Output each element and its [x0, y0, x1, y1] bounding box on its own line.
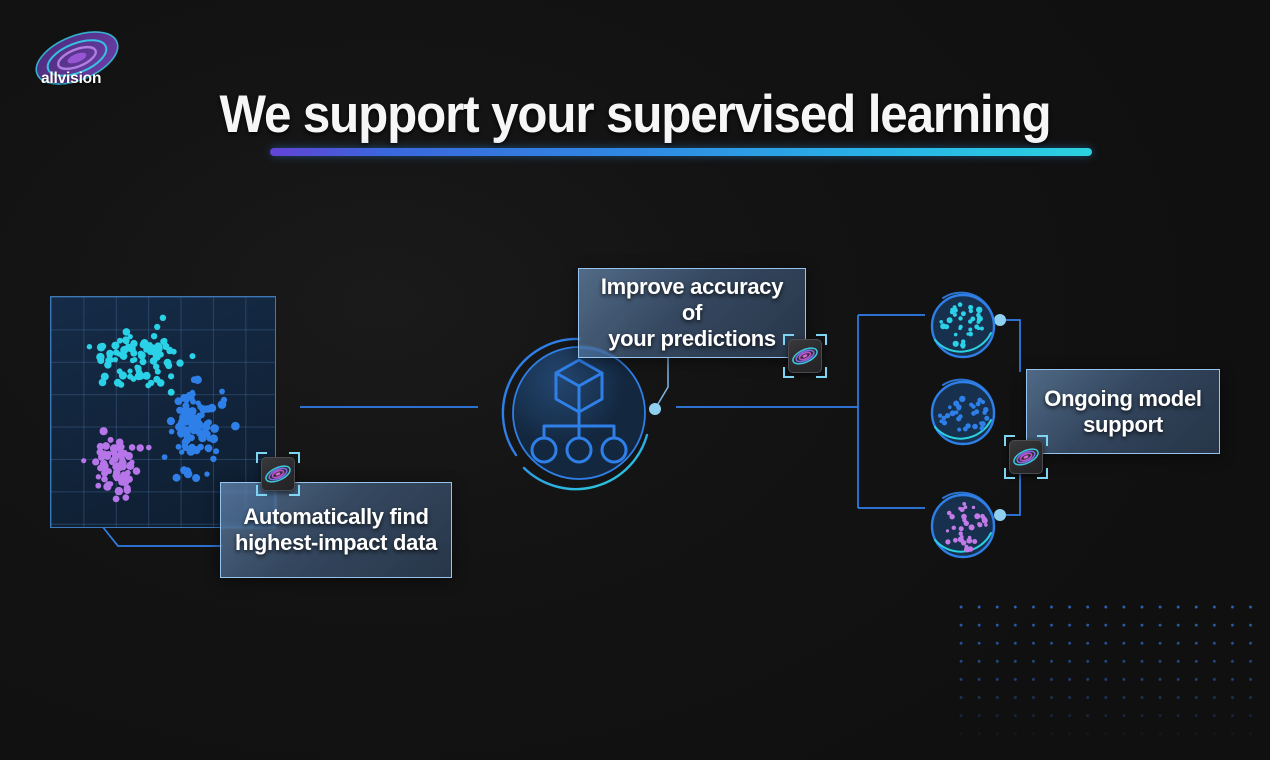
dish-purple[interactable] — [925, 488, 1001, 564]
corner-bracket-icon — [816, 367, 827, 378]
corner-bracket-icon — [783, 367, 794, 378]
card-label: Automatically find highest-impact data — [223, 504, 449, 556]
slide-canvas: allvision We support your supervised lea… — [0, 0, 1270, 760]
callout-ongoing-support[interactable]: Ongoing model support — [1026, 369, 1220, 454]
corner-bracket-icon — [289, 452, 300, 463]
corner-bracket-icon — [256, 485, 267, 496]
corner-bracket-icon — [1004, 468, 1015, 479]
callout-improve-accuracy[interactable]: Improve accuracy of your predictions — [578, 268, 806, 358]
corner-bracket-icon — [783, 334, 794, 345]
corner-bracket-icon — [1037, 435, 1048, 446]
corner-bracket-icon — [816, 334, 827, 345]
galaxy-badge-1[interactable] — [256, 452, 300, 496]
corner-bracket-icon — [289, 485, 300, 496]
corner-bracket-icon — [1037, 468, 1048, 479]
dish-blue[interactable] — [925, 375, 1001, 451]
corner-bracket-icon — [256, 452, 267, 463]
dish-cyan[interactable] — [925, 288, 1001, 364]
callout-automatically-find[interactable]: Automatically find highest-impact data — [220, 482, 452, 578]
galaxy-badge-3[interactable] — [1004, 435, 1048, 479]
galaxy-badge-2[interactable] — [783, 334, 827, 378]
corner-bracket-icon — [1004, 435, 1015, 446]
card-label: Improve accuracy of your predictions — [579, 274, 805, 352]
card-label: Ongoing model support — [1032, 386, 1213, 438]
